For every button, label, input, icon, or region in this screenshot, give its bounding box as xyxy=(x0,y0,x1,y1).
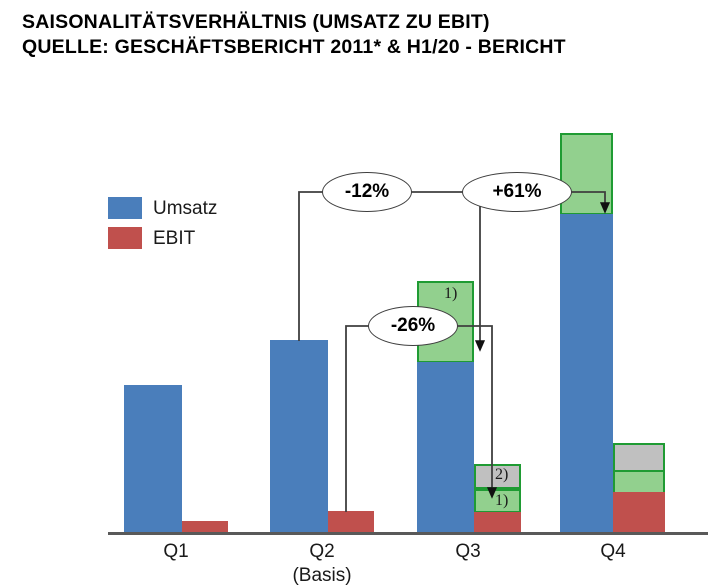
legend-swatch-umsatz xyxy=(108,197,142,219)
legend-item-ebit: EBIT xyxy=(108,223,217,253)
x-axis-label-q1: Q1 xyxy=(136,540,216,564)
bar-q1-umsatz xyxy=(124,385,182,532)
bar-q4-ebit-green-extension xyxy=(613,470,665,494)
bar-q4-umsatz-green-extension xyxy=(560,133,613,215)
bar-q4-ebit-gray-extension xyxy=(613,443,665,472)
footnote-q3-ebit-gray: 2) xyxy=(495,466,508,484)
footnote-q3-umsatz: 1) xyxy=(444,285,457,303)
legend-swatch-ebit xyxy=(108,227,142,249)
legend-item-umsatz: Umsatz xyxy=(108,193,217,223)
x-axis-label-q2: Q2 (Basis) xyxy=(282,540,362,588)
connector-q2-umsatz xyxy=(299,192,330,341)
x-axis-label-q1-text: Q1 xyxy=(163,541,188,562)
bar-q2-umsatz xyxy=(270,340,328,532)
callout-q2-q3-ebit[interactable]: -26% xyxy=(368,306,458,346)
bar-q3-umsatz xyxy=(417,362,474,532)
bar-q3-ebit xyxy=(474,512,521,532)
x-axis-label-q2-text: Q2 xyxy=(309,541,334,562)
bar-q4-ebit xyxy=(613,492,665,532)
footnote-q3-ebit-green: 1) xyxy=(495,492,508,510)
x-axis-line xyxy=(108,532,708,535)
callout-q3-q4-umsatz[interactable]: +61% xyxy=(462,172,572,212)
bar-q2-ebit xyxy=(328,511,374,532)
x-axis-label-q3: Q3 xyxy=(428,540,508,564)
chart-page: SAISONALITÄTSVERHÄLTNIS (UMSATZ ZU EBIT)… xyxy=(0,0,716,586)
x-axis-label-q4-text: Q4 xyxy=(600,541,625,562)
x-axis-label-q3-text: Q3 xyxy=(455,541,480,562)
x-axis-label-q2-sub: (Basis) xyxy=(282,564,362,588)
legend-label-ebit: EBIT xyxy=(153,229,195,248)
connector-q2-ebit xyxy=(346,326,374,512)
legend-label-umsatz: Umsatz xyxy=(153,199,217,218)
x-axis-label-q4: Q4 xyxy=(573,540,653,564)
callout-q2-q3-umsatz[interactable]: -12% xyxy=(322,172,412,212)
chart-plot-area: -12% +61% -26% 1) 2) 1) Q1 Q2 (Basis) Q3… xyxy=(0,0,716,586)
bar-q1-ebit xyxy=(182,521,228,532)
chart-legend: Umsatz EBIT xyxy=(108,193,217,253)
bar-q4-umsatz xyxy=(560,214,613,532)
